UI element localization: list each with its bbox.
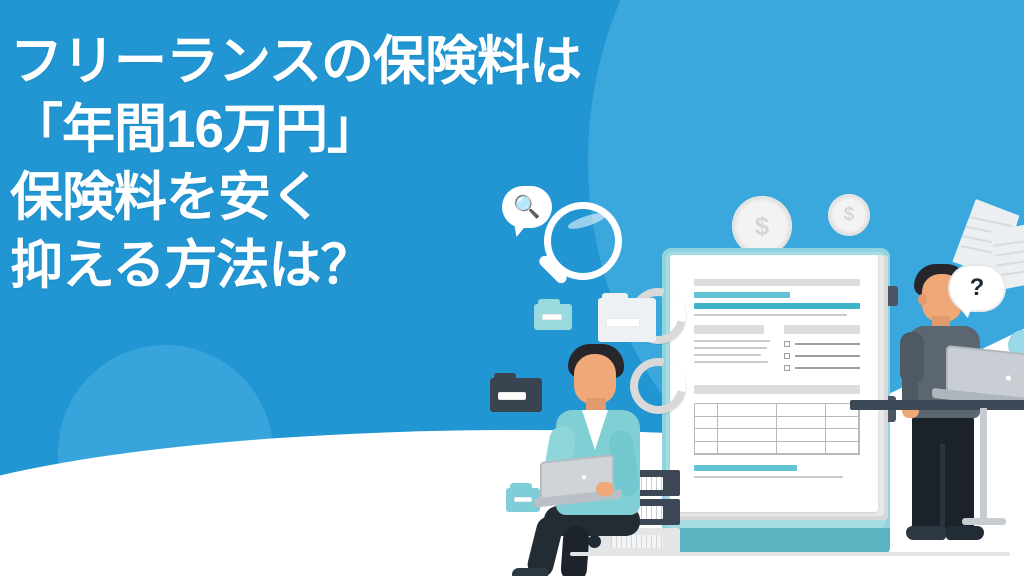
person-shoe bbox=[906, 526, 946, 540]
doc-footer-highlight bbox=[694, 465, 797, 471]
doc-subline bbox=[694, 314, 847, 316]
checkbox-icon bbox=[784, 353, 790, 359]
doc-checklist-line bbox=[795, 355, 860, 357]
folder-icon bbox=[534, 304, 572, 330]
coin-symbol: $ bbox=[833, 199, 865, 231]
thumbnail-canvas: フリーランスの保険料は 「年間16万円」 保険料を安く 抑える方法は？ $ $ bbox=[0, 0, 1024, 576]
ground-shadow-line bbox=[570, 552, 1010, 556]
doc-table-cell bbox=[695, 429, 718, 442]
paper-line bbox=[967, 216, 1012, 228]
headline-line-4: 抑える方法は？ bbox=[10, 232, 530, 300]
seated-person-with-laptop bbox=[500, 330, 680, 560]
question-bubble: ? bbox=[950, 266, 1004, 310]
headline-line-3: 保険料を安く bbox=[10, 164, 530, 232]
coin-symbol: $ bbox=[737, 201, 787, 251]
laptop-logo bbox=[582, 475, 586, 479]
doc-checklist bbox=[784, 341, 860, 371]
folder-label bbox=[606, 318, 640, 327]
question-mark-icon: ? bbox=[950, 274, 1004, 302]
folder-label bbox=[542, 314, 562, 320]
doc-checklist-item bbox=[784, 365, 860, 371]
person-shoe bbox=[946, 526, 984, 540]
doc-two-column bbox=[694, 325, 860, 377]
illustration: $ $ bbox=[480, 180, 1024, 576]
person-shoe bbox=[512, 568, 548, 576]
doc-title-bar bbox=[694, 279, 860, 286]
coin-icon: $ bbox=[828, 194, 870, 236]
doc-table-cell bbox=[695, 404, 718, 417]
doc-table-cell bbox=[718, 417, 777, 430]
standing-desk-leg bbox=[980, 408, 987, 520]
doc-table-cell bbox=[777, 417, 826, 430]
headline-block: フリーランスの保険料は 「年間16万円」 保険料を安く 抑える方法は？ bbox=[10, 28, 530, 300]
doc-col-left-line bbox=[694, 361, 768, 363]
doc-table-cell bbox=[777, 429, 826, 442]
person-hand bbox=[596, 482, 614, 496]
standing-desk-foot bbox=[962, 518, 1006, 525]
person-head bbox=[574, 354, 616, 404]
doc-col-left-line bbox=[694, 340, 770, 342]
doc-table-cell bbox=[695, 417, 718, 430]
coin-icon: $ bbox=[732, 196, 792, 256]
laptop-icon bbox=[932, 350, 1024, 406]
person-leg-lower bbox=[560, 525, 590, 576]
doc-table-cell bbox=[777, 404, 826, 417]
doc-highlight-bar-1 bbox=[694, 292, 790, 298]
doc-footer-line bbox=[694, 476, 843, 478]
person-leg-gap bbox=[940, 444, 945, 534]
document-page bbox=[670, 255, 878, 512]
doc-table-cell bbox=[826, 417, 859, 430]
doc-col-left-line bbox=[694, 347, 767, 349]
person-ear bbox=[918, 294, 927, 305]
magnifier-highlight bbox=[566, 210, 607, 232]
headline-line-2: 「年間16万円」 bbox=[10, 96, 530, 164]
magnifier-icon bbox=[544, 202, 636, 294]
doc-col-left-line bbox=[694, 354, 761, 356]
search-icon: 🔍 bbox=[502, 194, 552, 220]
doc-table-cell bbox=[826, 429, 859, 442]
folder-tab bbox=[538, 299, 560, 306]
doc-table-cell bbox=[718, 442, 777, 455]
doc-col-left bbox=[694, 325, 770, 377]
standing-desk-top bbox=[850, 400, 1024, 410]
doc-checklist-line bbox=[795, 367, 860, 369]
doc-col-right-header bbox=[784, 325, 860, 334]
doc-table bbox=[694, 403, 860, 455]
paper-line bbox=[993, 240, 1024, 247]
doc-col-right bbox=[784, 325, 860, 377]
doc-checklist-item bbox=[784, 353, 860, 359]
doc-table-cell bbox=[695, 442, 718, 455]
person-leg-lower bbox=[525, 514, 565, 576]
doc-table-cell bbox=[826, 442, 859, 455]
doc-highlight-bar-2 bbox=[694, 303, 860, 309]
search-bubble: 🔍 bbox=[502, 186, 552, 228]
laptop-logo bbox=[1006, 375, 1011, 381]
doc-table-cell bbox=[777, 442, 826, 455]
folder-tab bbox=[602, 293, 628, 300]
doc-section-bar bbox=[694, 385, 860, 394]
checkbox-icon bbox=[784, 341, 790, 347]
headline-line-1: フリーランスの保険料は bbox=[10, 28, 530, 96]
doc-col-left-header bbox=[694, 325, 764, 334]
doc-table-cell bbox=[718, 429, 777, 442]
doc-checklist-item bbox=[784, 341, 860, 347]
doc-table-cell bbox=[718, 404, 777, 417]
checkbox-icon bbox=[784, 365, 790, 371]
doc-checklist-line bbox=[795, 343, 860, 345]
paper-line bbox=[994, 249, 1024, 256]
